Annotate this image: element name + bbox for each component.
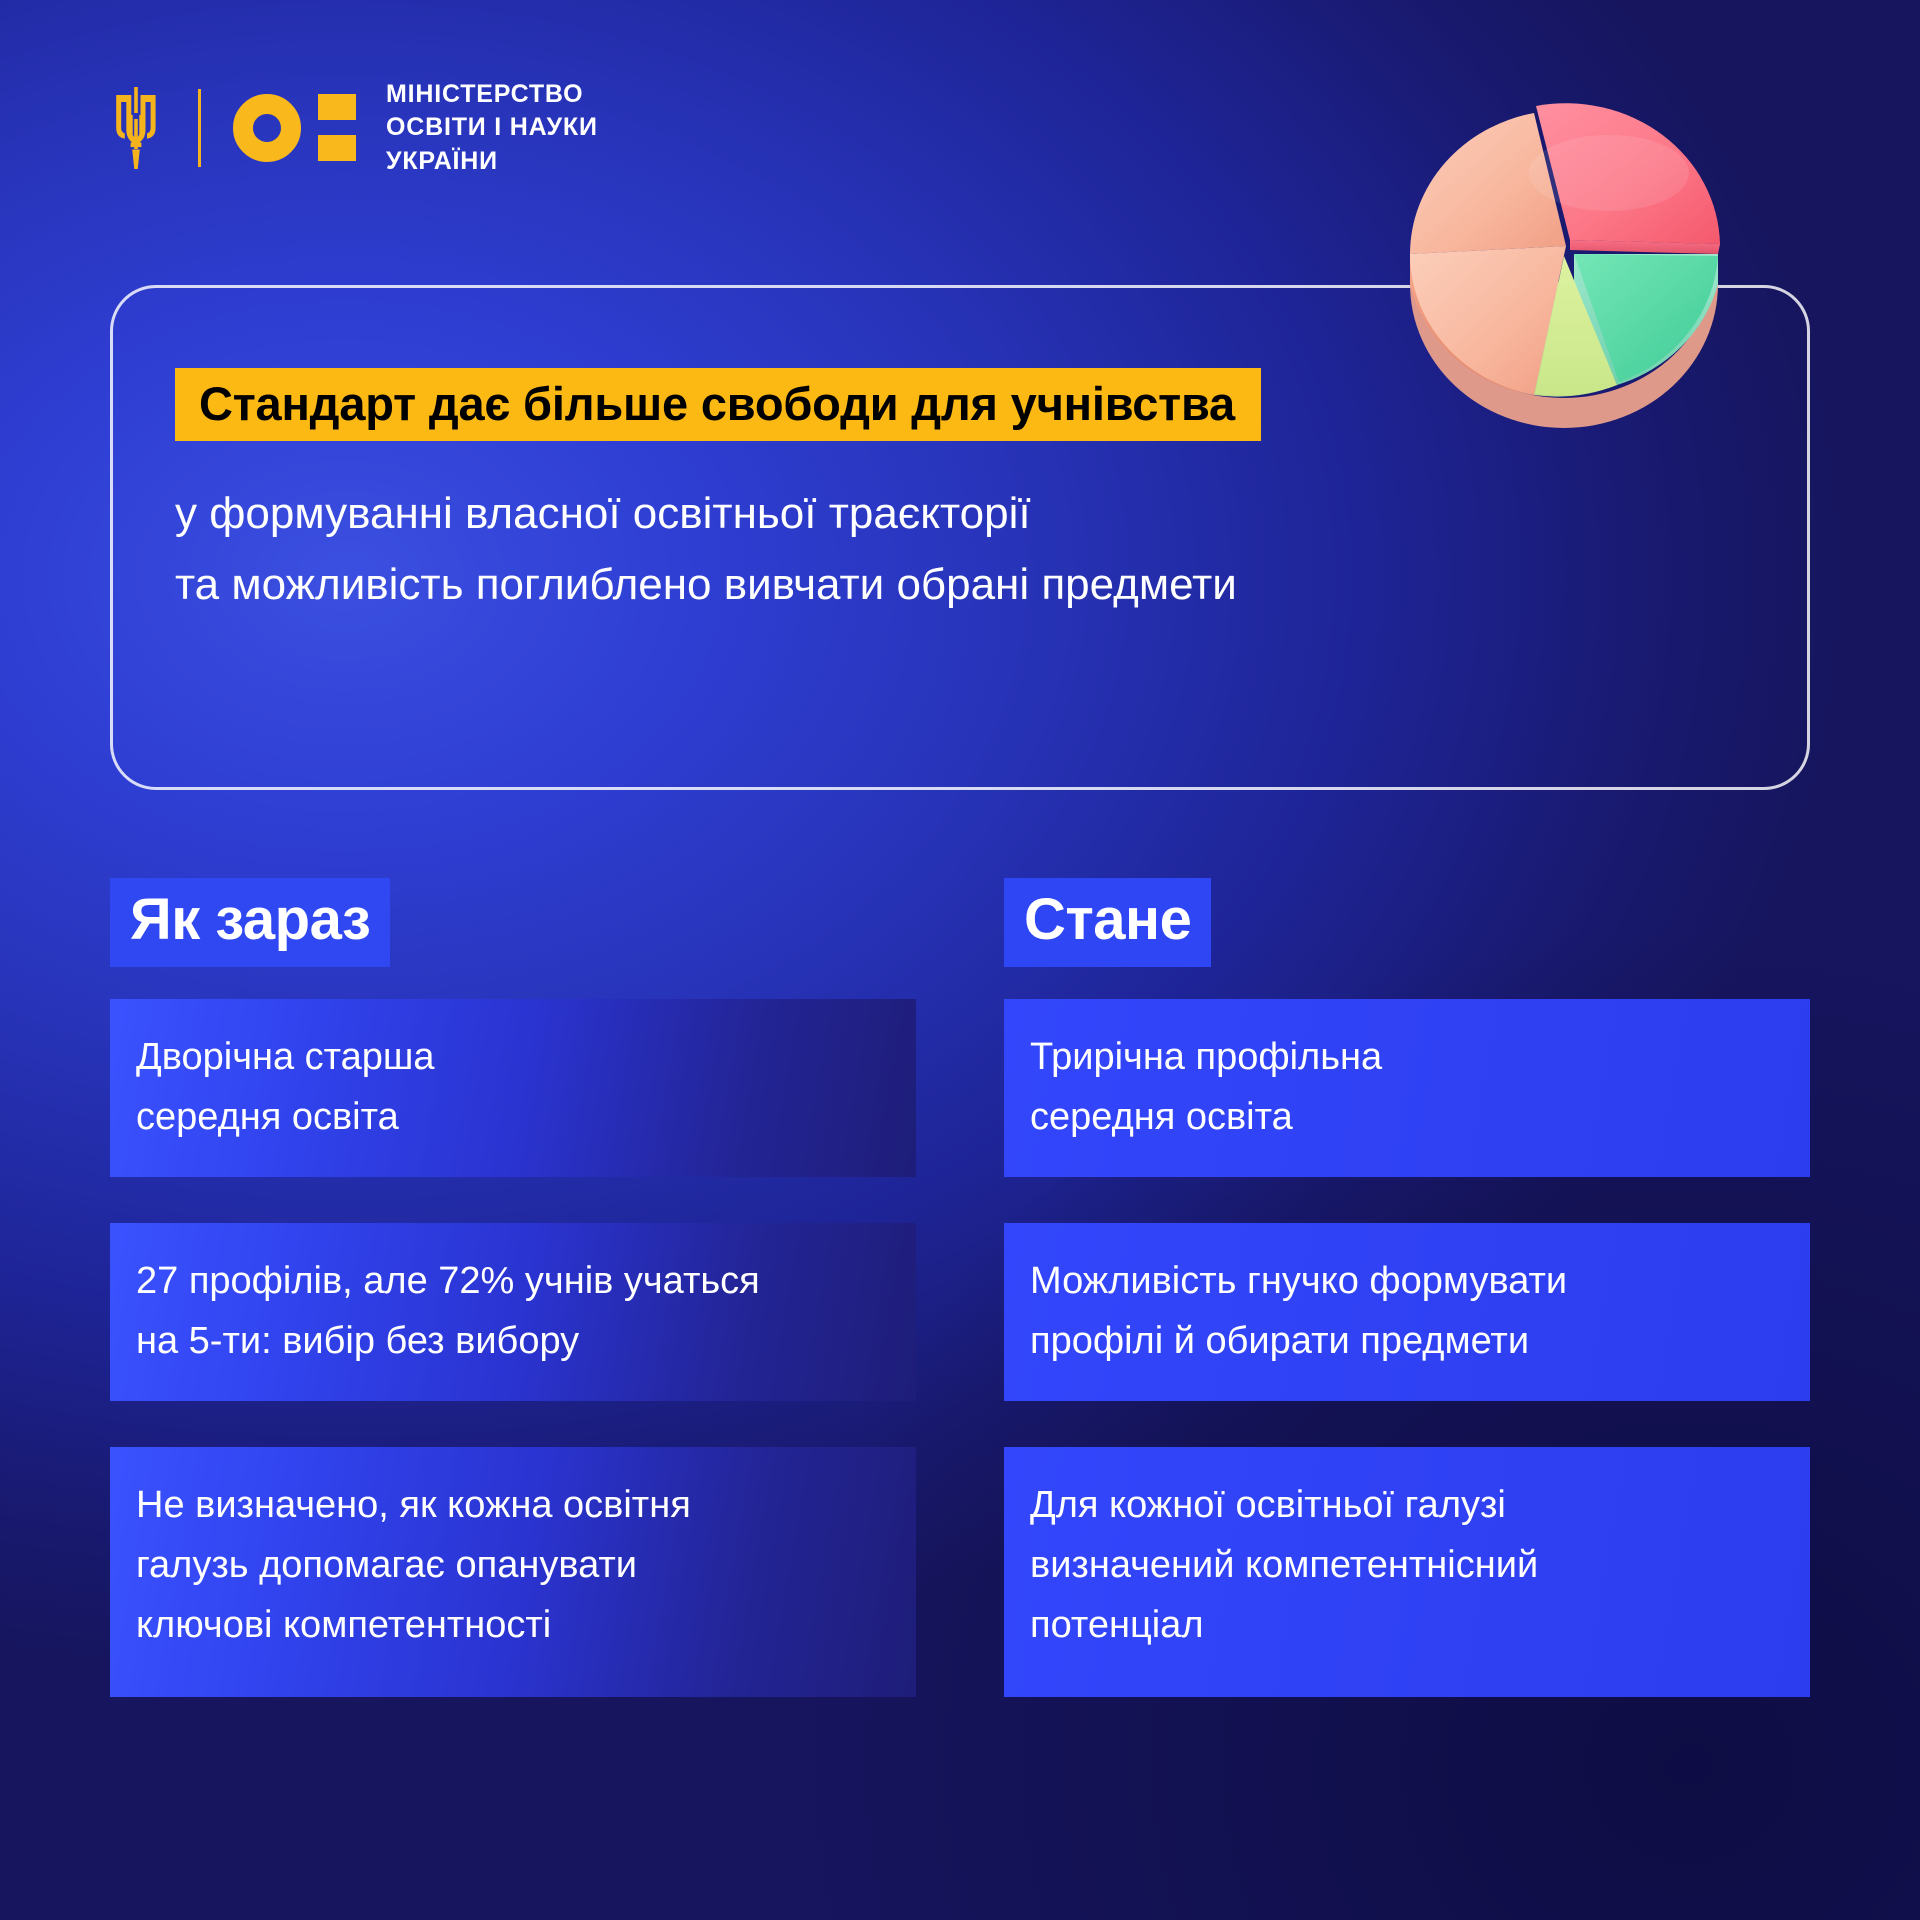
cell-line: Дворічна старша: [136, 1027, 882, 1087]
logo-equals-bars: [318, 94, 356, 161]
column-heading-now: Як зараз: [110, 878, 390, 967]
column-now: Як зараз Дворічна старша середня освіта …: [110, 878, 916, 1697]
list-item: Дворічна старша середня освіта: [110, 999, 916, 1177]
ukraine-trident-icon: [108, 85, 164, 171]
cell-line: Не визначено, як кожна освітня: [136, 1475, 882, 1535]
list-item: 27 профілів, але 72% учнів учаться на 5-…: [110, 1223, 916, 1401]
column-heading-will: Стане: [1004, 878, 1211, 967]
cell-line: Трирічна профільна: [1030, 1027, 1776, 1087]
ministry-name: МІНІСТЕРСТВО ОСВІТИ І НАУКИ УКРАЇНИ: [386, 78, 598, 178]
cell-line: визначений компетентнісний: [1030, 1535, 1776, 1595]
headline-highlight: Стандарт дає більше свободи для учнівств…: [175, 368, 1261, 441]
headline-subtext: у формуванні власної освітньої траєкторі…: [175, 478, 1237, 621]
column-will: Стане Трирічна профільна середня освіта …: [1004, 878, 1810, 1697]
comparison-section: Як зараз Дворічна старша середня освіта …: [110, 878, 1810, 1697]
headline-line-1: у формуванні власної освітньої траєкторі…: [175, 478, 1237, 549]
infographic-canvas: МІНІСТЕРСТВО ОСВІТИ І НАУКИ УКРАЇНИ: [0, 0, 1920, 1920]
list-item: Не визначено, як кожна освітня галузь до…: [110, 1447, 916, 1697]
cell-line: на 5-ти: вибір без вибору: [136, 1311, 882, 1371]
cell-line: ключові компетентності: [136, 1595, 882, 1655]
logo-circle-o: [233, 94, 301, 162]
cell-line: Для кожної освітньої галузі: [1030, 1475, 1776, 1535]
logo-divider: [198, 89, 201, 167]
cell-line: профілі й обирати предмети: [1030, 1311, 1776, 1371]
list-item: Для кожної освітньої галузі визначений к…: [1004, 1447, 1810, 1697]
cell-line: середня освіта: [136, 1087, 882, 1147]
pie-chart-3d-illustration: [1374, 68, 1754, 428]
cell-line: галузь допомагає опанувати: [136, 1535, 882, 1595]
cell-line: Можливість гнучко формувати: [1030, 1251, 1776, 1311]
list-item: Трирічна профільна середня освіта: [1004, 999, 1810, 1177]
cell-line: 27 профілів, але 72% учнів учаться: [136, 1251, 882, 1311]
cell-line: потенціал: [1030, 1595, 1776, 1655]
list-item: Можливість гнучко формувати профілі й об…: [1004, 1223, 1810, 1401]
headline-line-2: та можливість поглиблено вивчати обрані …: [175, 549, 1237, 620]
ministry-logo: МІНІСТЕРСТВО ОСВІТИ І НАУКИ УКРАЇНИ: [108, 78, 598, 178]
cell-line: середня освіта: [1030, 1087, 1776, 1147]
mon-o-equals-logo-icon: [233, 94, 356, 162]
